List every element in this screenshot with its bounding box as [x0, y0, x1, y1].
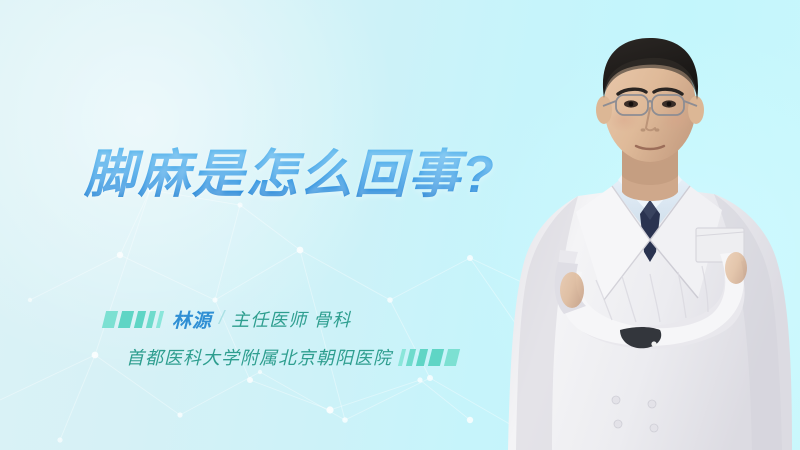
- doctor-name: 林源: [172, 306, 212, 333]
- credit-line-primary: 林源 / 主任医师 骨科: [104, 306, 524, 332]
- doctor-credit-block: 林源 / 主任医师 骨科 首都医科大学附属北京朝阳医院: [104, 306, 524, 370]
- doctor-head: [596, 38, 704, 164]
- left-decorative-bars: [104, 311, 166, 328]
- decor-bar-3: [134, 311, 146, 328]
- doctor-role-and-department: 主任医师 骨科: [231, 306, 351, 332]
- decor-bar-r5: [444, 349, 460, 366]
- decor-bar-4: [146, 311, 156, 328]
- decor-bar-r3: [416, 349, 428, 366]
- decor-bar-r1: [398, 349, 406, 366]
- decor-bar-r4: [428, 349, 444, 366]
- decor-bar-1: [102, 311, 118, 328]
- decor-bar-2: [118, 311, 134, 328]
- doctor-portrait-svg: [500, 0, 800, 450]
- credit-line-secondary: 首都医科大学附属北京朝阳医院: [104, 344, 524, 370]
- doctor-portrait: [500, 0, 800, 450]
- video-thumbnail-banner: 脚麻是怎么回事? 林源 / 主任医师 骨科 首都医科大学附属北京朝阳医院: [0, 0, 800, 450]
- decor-bar-5: [156, 311, 164, 328]
- hospital-name: 首都医科大学附属北京朝阳医院: [126, 344, 392, 370]
- decor-bar-r2: [406, 349, 416, 366]
- right-decorative-bars: [400, 349, 458, 366]
- page-title: 脚麻是怎么回事?: [84, 146, 496, 206]
- credit-separator: /: [219, 308, 224, 330]
